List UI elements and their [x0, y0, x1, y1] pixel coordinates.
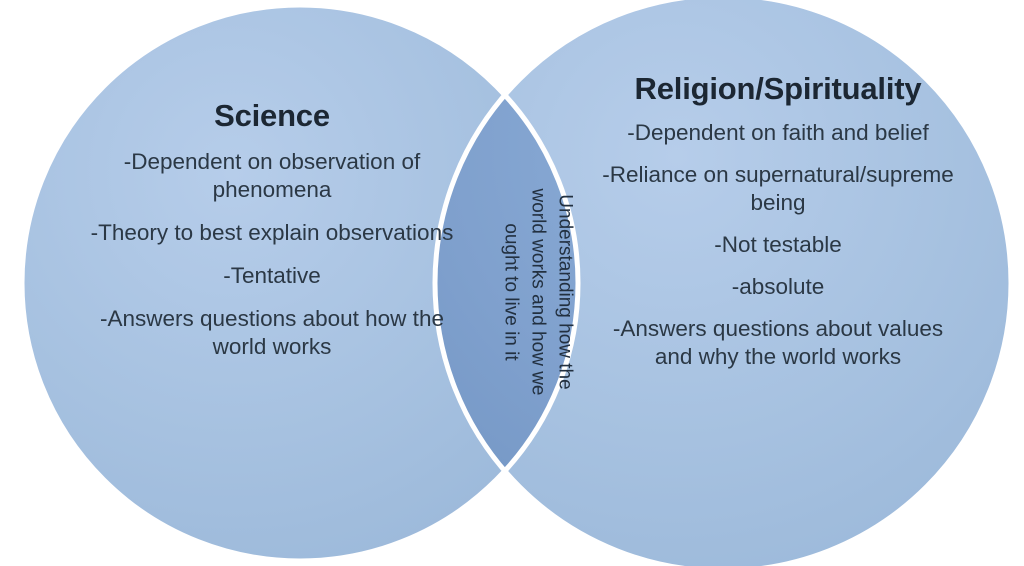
science-bullet-3: -Tentative: [72, 262, 472, 290]
venn-text-layer: Science -Dependent on observation of phe…: [0, 0, 1024, 566]
religion-title: Religion/Spirituality: [592, 70, 964, 107]
science-bullet-2: -Theory to best explain observations: [72, 219, 472, 247]
religion-bullet-1: -Dependent on faith and belief: [592, 119, 964, 147]
venn-diagram-canvas: Science -Dependent on observation of phe…: [0, 0, 1024, 566]
overlap-line-3: ought to live in it: [498, 112, 525, 472]
overlap-text-rotated: Understanding how the world works and ho…: [498, 112, 579, 472]
science-bullet-1: -Dependent on observation of phenomena: [72, 148, 472, 204]
religion-bullet-2: -Reliance on supernatural/supreme being: [592, 161, 964, 217]
religion-bullet-4: -absolute: [592, 273, 964, 301]
overlap-line-1: Understanding how the: [552, 112, 579, 472]
overlap-line-2: world works and how we: [525, 112, 552, 472]
science-bullet-4: -Answers questions about how the world w…: [72, 305, 472, 361]
science-panel: Science -Dependent on observation of phe…: [72, 98, 472, 376]
religion-panel: Religion/Spirituality -Dependent on fait…: [592, 70, 964, 385]
religion-bullet-5: -Answers questions about values and why …: [592, 315, 964, 371]
science-title: Science: [72, 98, 472, 134]
religion-bullet-3: -Not testable: [592, 231, 964, 259]
